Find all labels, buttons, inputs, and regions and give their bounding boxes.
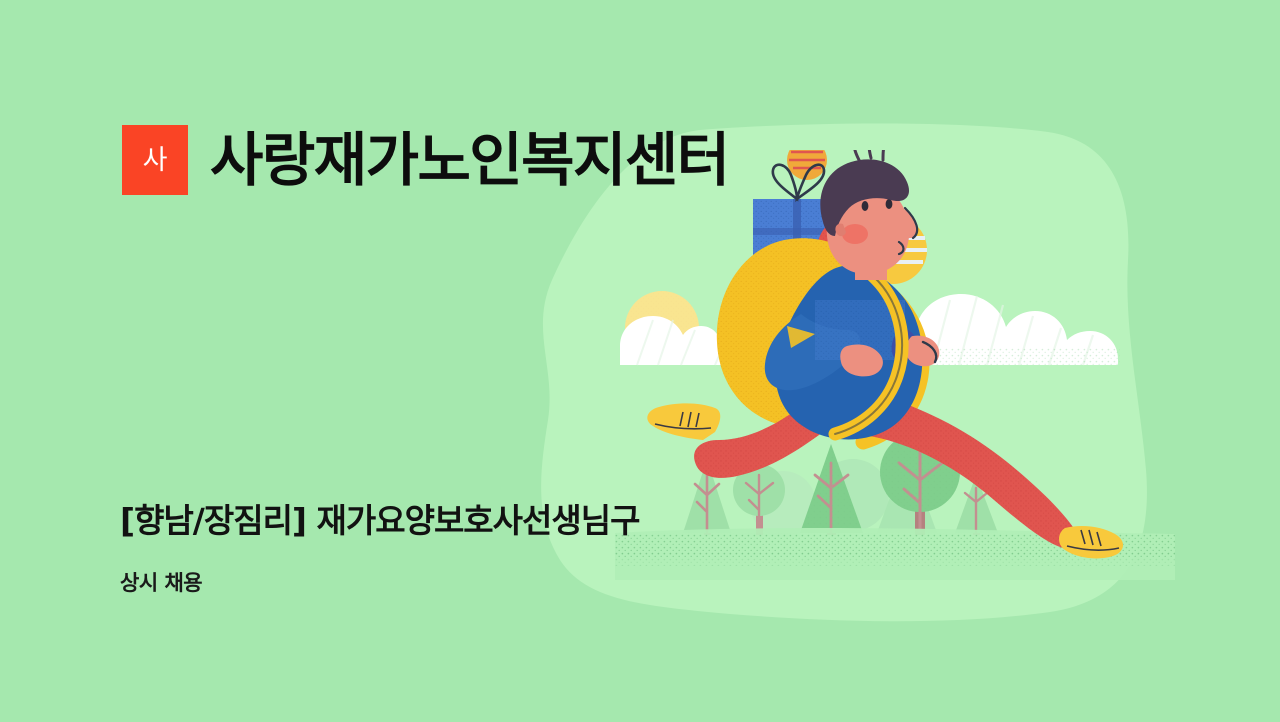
job-posting-title[interactable]: [향남/장짐리] 재가요양보호사선생님구 xyxy=(120,500,639,541)
running-delivery-man-illustration xyxy=(615,150,1175,580)
runner-head xyxy=(820,150,917,274)
company-logo-initial: 사 xyxy=(143,147,168,174)
hiring-status-label: 상시 채용 xyxy=(120,571,202,596)
cloud-right-icon xyxy=(915,294,1120,365)
job-posting-card: 사 사랑재가노인복지센터 [향남/장짐리] 재가요양보호사선생님구 상시 채용 xyxy=(0,0,1280,722)
company-logo-badge: 사 xyxy=(122,125,188,195)
company-header: 사 사랑재가노인복지센터 xyxy=(122,125,729,195)
company-name: 사랑재가노인복지센터 xyxy=(210,131,729,189)
